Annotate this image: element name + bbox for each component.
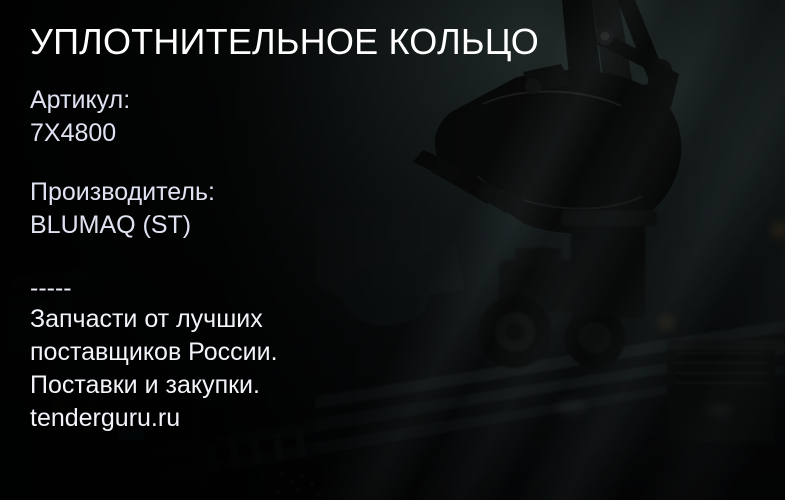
manufacturer-value: BLUMAQ (ST) [30, 211, 191, 239]
promo-block: Запчасти от лучших поставщиков России. П… [30, 303, 278, 435]
promo-website: tenderguru.ru [30, 402, 278, 435]
article-value: 7X4800 [30, 119, 116, 147]
product-banner: УПЛОТНИТЕЛЬНОЕ КОЛЬЦО Артикул: 7X4800 Пр… [0, 0, 785, 500]
article-block: Артикул: 7X4800 [30, 84, 130, 150]
manufacturer-label: Производитель: [30, 178, 215, 206]
divider: ----- [30, 272, 72, 305]
article-label: Артикул: [30, 86, 130, 114]
bokeh-light [772, 222, 785, 238]
promo-line-3: Поставки и закупки. [30, 369, 278, 402]
banner-text-content: УПЛОТНИТЕЛЬНОЕ КОЛЬЦО Артикул: 7X4800 Пр… [30, 0, 590, 500]
page-title: УПЛОТНИТЕЛЬНОЕ КОЛЬЦО [30, 22, 539, 62]
promo-line-2: поставщиков России. [30, 336, 278, 369]
manufacturer-block: Производитель: BLUMAQ (ST) [30, 176, 215, 242]
bokeh-light [660, 316, 674, 330]
promo-line-1: Запчасти от лучших [30, 303, 278, 336]
bokeh-light [706, 404, 732, 416]
